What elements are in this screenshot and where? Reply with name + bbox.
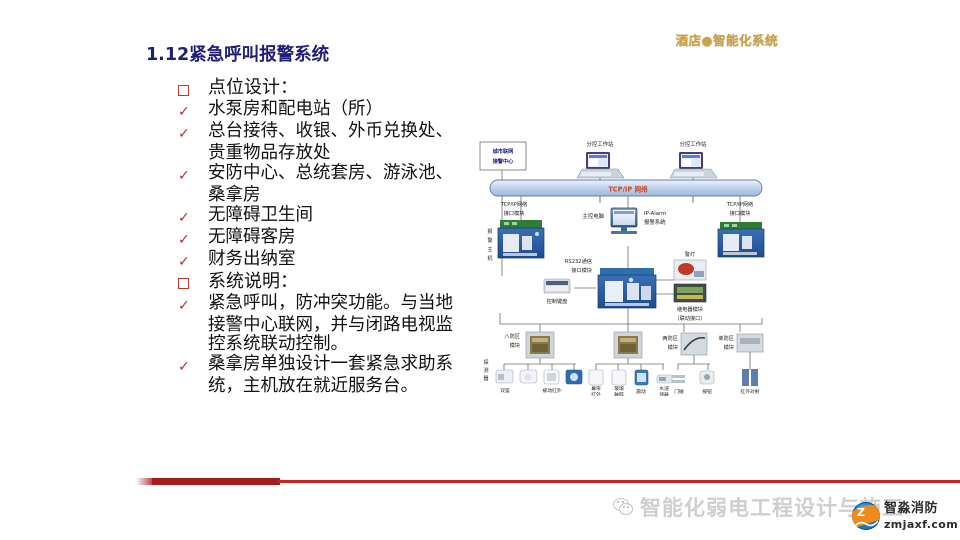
diagram-node-workstation-left: 分控工作站: [577, 140, 624, 178]
bullet-text: 无障碍卫生间: [208, 206, 313, 226]
svg-text:机: 机: [487, 254, 493, 262]
diagram-node-warning-light: 警灯: [674, 250, 706, 280]
bullet-continuation-spacer: [178, 186, 208, 189]
bullet-check-icon: ✓: [178, 122, 208, 143]
bullet-check-icon: ✓: [178, 100, 208, 121]
bullet-list: 点位设计：✓水泵房和配电站（所）✓总台接待、收银、外币兑换处、贵重物品存放处✓安…: [178, 78, 498, 397]
diagram-detector-icons: [496, 369, 758, 386]
bullet-row: ✓水泵房和配电站（所）: [178, 100, 498, 121]
svg-text:被动红外: 被动红外: [542, 387, 561, 394]
bullet-text: 安防中心、总统套房、游泳池、: [208, 164, 453, 184]
svg-text:TCP/IP 网络: TCP/IP 网络: [608, 185, 648, 194]
bullet-row: ✓财务出纳室: [178, 250, 498, 271]
bullet-text: 桑拿房: [208, 186, 261, 206]
diagram-node-alarm-host-left: 报 警 主 机: [487, 220, 544, 262]
diagram-node-zone1-module: 单防区 模块: [718, 334, 763, 352]
bullet-continuation-spacer: [178, 144, 208, 147]
bullet-text: 系统说明：: [208, 272, 298, 292]
system-architecture-diagram: 城市联网 接警中心 分控工作站 分控工作站 TCP/IP 网络 主控电脑: [478, 128, 778, 396]
watermark-logo: Z 智淼消防 zmjaxf.com: [852, 500, 958, 532]
bullet-continuation-spacer: [178, 335, 208, 338]
bullet-row: 接警中心联网，并与闭路电视监: [178, 316, 498, 336]
bullet-text: 紧急呼叫，防冲突功能。与当地: [208, 294, 453, 314]
svg-text:红外对射: 红外对射: [740, 388, 759, 395]
diagram-node-control-keyboard: 控制键盘: [544, 279, 570, 305]
diagram-node-city-center: 城市联网 接警中心: [480, 142, 526, 170]
svg-text:接口模块: 接口模块: [571, 266, 593, 274]
bullet-check-icon: ✓: [178, 164, 208, 185]
diagram-node-rs232-module: RS232通信 接口模块: [565, 257, 656, 308]
svg-text:按钮: 按钮: [702, 388, 712, 395]
svg-text:八防区: 八防区: [504, 332, 520, 340]
bullet-continuation-spacer: [178, 316, 208, 319]
svg-text:控制键盘: 控制键盘: [547, 297, 568, 305]
bullet-text: 控系统联动控制。: [208, 335, 348, 355]
diagram-node-tcpip-module-left: TCP/IP网络 接口模块: [500, 200, 527, 217]
svg-text:警: 警: [487, 236, 492, 244]
bullet-square-icon: [178, 78, 208, 99]
svg-text:接口模块: 接口模块: [730, 209, 752, 217]
bullet-row: ✓无障碍客房: [178, 228, 498, 249]
svg-text:警灯: 警灯: [685, 250, 695, 258]
footer-bar-thin: [278, 480, 960, 483]
svg-text:分控工作站: 分控工作站: [680, 140, 708, 148]
wechat-icon: [612, 496, 634, 518]
bullet-text: 点位设计：: [208, 78, 298, 98]
bullet-row: 贵重物品存放处: [178, 144, 498, 164]
svg-text:接警中心: 接警中心: [493, 157, 515, 165]
diagram-network-bar: TCP/IP 网络: [490, 180, 762, 196]
diagram-node-relay-module: 继电器模块 （联动接口）: [674, 284, 706, 322]
watermark-name: 智淼消防: [884, 501, 938, 516]
svg-text:玻璃: 玻璃: [614, 385, 624, 392]
svg-text:模块: 模块: [668, 343, 679, 351]
bullet-check-icon: ✓: [178, 206, 208, 227]
bullet-text: 桑拿房单独设计一套紧急求助系: [208, 355, 453, 375]
svg-text:报警系统: 报警系统: [644, 218, 666, 226]
bullet-text: 接警中心联网，并与闭路电视监: [208, 316, 453, 336]
svg-text:继电器模块: 继电器模块: [677, 305, 704, 313]
svg-text:两防区: 两防区: [662, 334, 678, 342]
diagram-node-zone2-module: 两防区 模块: [662, 333, 707, 355]
bullet-row: ✓总台接待、收银、外币兑换处、: [178, 122, 498, 143]
svg-text:模块: 模块: [724, 343, 735, 351]
page-title: 1.12紧急呼叫报警系统: [146, 41, 329, 66]
svg-text:TCP/IP网络: TCP/IP网络: [726, 200, 753, 208]
bullet-row: ✓桑拿房单独设计一套紧急求助系: [178, 355, 498, 376]
bullet-check-icon: ✓: [178, 355, 208, 376]
svg-text:器: 器: [483, 376, 488, 382]
svg-text:城市联网: 城市联网: [493, 147, 514, 155]
diagram-node-host-computer: 主控电脑 IP-Alarm 报警系统: [582, 208, 666, 234]
diagram-node-zone8-module: 八防区 模块: [504, 332, 554, 358]
bullet-text: 水泵房和配电站（所）: [208, 100, 383, 120]
bullet-check-icon: ✓: [178, 294, 208, 315]
svg-text:RS232通信: RS232通信: [565, 257, 592, 265]
bullet-row: ✓无障碍卫生间: [178, 206, 498, 227]
header-brand: 酒店●智能化系统: [676, 30, 778, 49]
bullet-square-icon: [178, 272, 208, 293]
diagram-node-zone8-module-2: [614, 332, 642, 358]
bullet-row: ✓安防中心、总统套房、游泳池、: [178, 164, 498, 185]
bullet-row: ✓紧急呼叫，防冲突功能。与当地: [178, 294, 498, 315]
bullet-row: 桑拿房: [178, 186, 498, 206]
bullet-row: 统，主机放在就近服务台。: [178, 377, 498, 397]
bullet-text: 统，主机放在就近服务台。: [208, 377, 418, 397]
svg-text:主: 主: [487, 245, 492, 253]
bullet-text: 财务出纳室: [208, 250, 296, 270]
bullet-row: 点位设计：: [178, 78, 498, 99]
bullet-text: 无障碍客房: [208, 228, 296, 248]
svg-text:水浸: 水浸: [659, 385, 669, 392]
svg-text:IP-Alarm: IP-Alarm: [644, 211, 666, 217]
svg-text:双鉴: 双鉴: [500, 387, 510, 394]
bullet-text: 总台接待、收银、外币兑换处、: [208, 122, 453, 142]
bullet-row: 控系统联动控制。: [178, 335, 498, 355]
brand-badge-icon: Z: [852, 502, 880, 530]
diagram-node-tcpip-module-right: TCP/IP网络 接口模块: [718, 200, 764, 257]
svg-text:单防区: 单防区: [718, 334, 734, 342]
svg-text:模块: 模块: [510, 341, 521, 349]
bullet-text: 贵重物品存放处: [208, 144, 331, 164]
svg-text:测: 测: [483, 367, 488, 374]
svg-text:报: 报: [487, 227, 492, 235]
bullet-row: 系统说明：: [178, 272, 498, 293]
svg-text:探: 探: [483, 359, 488, 366]
bullet-check-icon: ✓: [178, 228, 208, 249]
diagram-detector-label: 探 测 器: [483, 359, 488, 382]
svg-text:门磁: 门磁: [674, 388, 684, 395]
svg-text:幕帘: 幕帘: [591, 385, 601, 392]
svg-text:（联动接口）: （联动接口）: [674, 314, 705, 322]
bullet-check-icon: ✓: [178, 250, 208, 271]
footer-bar-thick: [152, 478, 280, 485]
svg-text:分控工作站: 分控工作站: [587, 140, 615, 148]
svg-text:TCP/IP网络: TCP/IP网络: [500, 200, 527, 208]
diagram-node-workstation-right: 分控工作站: [670, 140, 717, 178]
watermark-url: zmjaxf.com: [884, 518, 958, 531]
svg-text:震动: 震动: [636, 388, 646, 395]
svg-text:主控电脑: 主控电脑: [582, 212, 604, 220]
bullet-continuation-spacer: [178, 377, 208, 380]
svg-text:接口模块: 接口模块: [504, 209, 526, 217]
